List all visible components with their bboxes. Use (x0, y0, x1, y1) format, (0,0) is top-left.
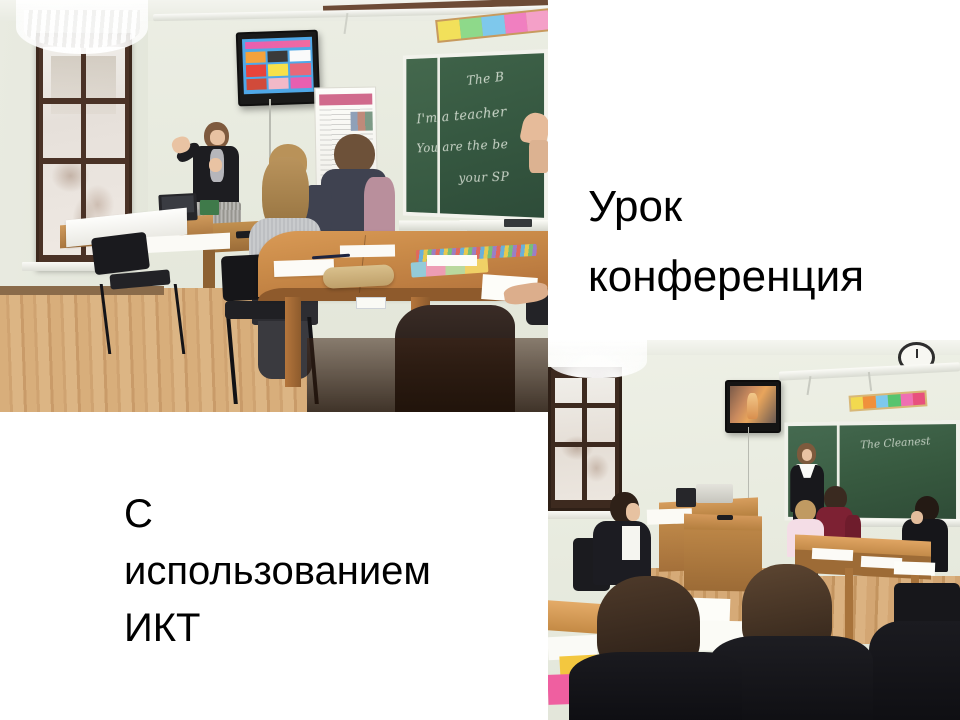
ikt-subtitle: С использованием ИКТ (124, 486, 524, 656)
monitor (676, 488, 697, 507)
photo-classroom-lesson-content: The B I'm a teacher You are the be your … (0, 0, 548, 412)
foreground-student-body (569, 652, 742, 720)
student-shirt (622, 526, 640, 560)
student-arm (529, 140, 548, 173)
teacher-face (210, 130, 224, 145)
chalkboard-text-line: your SP (459, 170, 510, 186)
desk-paper (894, 562, 936, 577)
chair-backrest (91, 232, 150, 275)
poster-header-band (319, 93, 372, 105)
chalkboard-eraser (504, 219, 531, 226)
window-curtain (16, 0, 148, 54)
subtitle-line-2: использованием (124, 543, 524, 600)
chair-legs (226, 317, 318, 404)
tv-slide-tiles (245, 50, 311, 90)
tv-screen (730, 386, 776, 424)
desk-phone (717, 515, 733, 521)
photo-classroom-conference-content: The Cleanest (548, 340, 960, 720)
chalkboard-text-line: The B (467, 70, 506, 89)
subtitle-line-1: С (124, 486, 524, 543)
poster-thumbnails (351, 111, 373, 131)
printer (696, 484, 733, 503)
presentation-slide: The B I'm a teacher You are the be your … (0, 0, 960, 720)
student-face (626, 503, 640, 520)
subtitle-line-3: ИКТ (124, 600, 524, 657)
title-line-2: конференция (588, 242, 948, 312)
student-sleeve (364, 177, 394, 239)
chalkboard-side-panel (406, 58, 440, 214)
chalkboard-text-line: You are the be (416, 138, 508, 157)
chair-legs (100, 284, 186, 354)
classroom-window (548, 367, 622, 511)
wall-mounted-tv (725, 380, 781, 433)
title-line-1: Урок (588, 172, 948, 242)
table-leg (285, 297, 301, 388)
chalkboard-text-line: The Cleanest (860, 434, 931, 451)
wall-mounted-tv (235, 29, 320, 106)
desk-paper (811, 548, 853, 562)
foreground-shadow (307, 338, 548, 412)
presenter-face (802, 449, 813, 460)
window-curtain (548, 340, 647, 378)
green-box (200, 200, 219, 215)
photo-classroom-conference[interactable]: The Cleanest (548, 340, 960, 720)
window-mullion-vertical (582, 370, 587, 508)
pencil-case (323, 264, 395, 288)
lesson-conference-title: Урок конференция (588, 172, 948, 313)
photo-classroom-lesson[interactable]: The B I'm a teacher You are the be your … (0, 0, 548, 412)
student-hand (911, 511, 923, 524)
tv-screen (242, 37, 314, 94)
teacher-hand (209, 158, 222, 172)
foreground-student (869, 621, 960, 720)
name-badge (356, 297, 385, 309)
table-paper (427, 255, 476, 266)
